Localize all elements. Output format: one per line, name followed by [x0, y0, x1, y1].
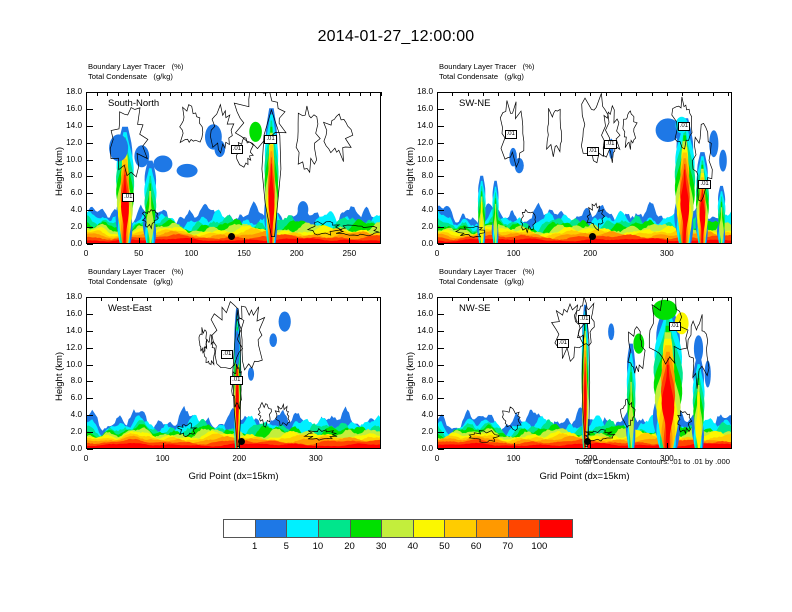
- x-minor-tick: [437, 297, 438, 301]
- panel-label-south-north: South-North: [108, 98, 159, 109]
- colorbar-cell: [382, 520, 414, 537]
- panel-header-nw-se: Boundary Layer Tracer (%)Total Condensat…: [439, 267, 534, 286]
- y-tick-mark: [438, 432, 444, 433]
- x-axis-label: Grid Point (dx=15km): [437, 471, 732, 482]
- x-tick-mark: [514, 443, 515, 449]
- x-tick-label: 100: [494, 454, 534, 463]
- y-tick-mark: [438, 314, 444, 315]
- contour-label: .01: [264, 135, 276, 144]
- contour-label: .01: [122, 193, 134, 202]
- y-tick-label: 16.0: [403, 309, 433, 318]
- panel-header-line1: Boundary Layer Tracer (%): [439, 267, 534, 277]
- y-tick-mark: [438, 398, 444, 399]
- x-minor-tick: [498, 297, 499, 301]
- x-minor-tick: [575, 297, 576, 301]
- contour-label: .01: [578, 315, 590, 324]
- colorbar-cell: [477, 520, 509, 537]
- x-minor-tick: [682, 297, 683, 301]
- x-minor-tick: [452, 297, 453, 301]
- x-minor-tick: [560, 297, 561, 301]
- y-axis-label: Height (km): [405, 352, 416, 401]
- station-marker: [589, 233, 596, 240]
- contour-label: .01: [698, 180, 710, 189]
- station-marker: [584, 438, 591, 445]
- x-tick-label: 0: [417, 454, 457, 463]
- y-tick-mark: [438, 381, 444, 382]
- y-tick-label: 4.0: [403, 410, 433, 419]
- contour-label: .01: [678, 122, 690, 131]
- panel-label-nw-se: NW-SE: [459, 303, 491, 314]
- contour-label: .01: [231, 145, 243, 154]
- y-tick-mark: [438, 348, 444, 349]
- y-tick-mark: [438, 331, 444, 332]
- colorbar-cell: [224, 520, 256, 537]
- y-tick-label: 14.0: [403, 326, 433, 335]
- x-tick-mark: [667, 443, 668, 449]
- y-tick-label: 12.0: [403, 343, 433, 352]
- y-tick-label: 2.0: [403, 427, 433, 436]
- x-minor-tick: [713, 297, 714, 301]
- y-tick-mark: [438, 415, 444, 416]
- x-minor-tick: [468, 297, 469, 301]
- x-minor-tick: [652, 297, 653, 301]
- x-tick-mark: [437, 443, 438, 449]
- contour-label: .01: [604, 140, 616, 149]
- station-marker: [238, 438, 245, 445]
- figure-canvas: 2014-01-27_12:00:00 Boundary Layer Trace…: [0, 0, 792, 612]
- colorbar-cell: [287, 520, 319, 537]
- y-tick-mark: [438, 365, 444, 366]
- x-minor-tick: [529, 297, 530, 301]
- x-minor-tick: [544, 297, 545, 301]
- colorbar-cell: [540, 520, 572, 537]
- colorbar-cell: [256, 520, 288, 537]
- colorbar-cell: [414, 520, 446, 537]
- x-tick-mark: [590, 443, 591, 449]
- x-minor-tick: [483, 297, 484, 301]
- y-tick-mark: [438, 449, 444, 450]
- panel-header-line2: Total Condensate (g/kg): [439, 277, 534, 287]
- x-minor-tick: [621, 297, 622, 301]
- y-tick-label: 0.0: [403, 444, 433, 453]
- x-minor-tick: [728, 297, 729, 301]
- colorbar-cell: [319, 520, 351, 537]
- panel-label-west-east: West-East: [108, 303, 152, 314]
- x-minor-tick: [514, 297, 515, 301]
- x-minor-tick: [698, 297, 699, 301]
- y-tick-label: 18.0: [403, 292, 433, 301]
- colorbar-cell: [351, 520, 383, 537]
- panel-label-sw-ne: SW-NE: [459, 98, 491, 109]
- contour-label: .01: [230, 376, 242, 385]
- colorbar-cell: [445, 520, 477, 537]
- colorbar: [223, 519, 573, 538]
- contour-note: Total Condensate Contours: .01 to .01 by…: [575, 457, 730, 466]
- contour-label: .01: [221, 350, 233, 359]
- contour-label: .01: [587, 147, 599, 156]
- contour-label: .01: [557, 339, 569, 348]
- colorbar-cell: [509, 520, 541, 537]
- x-minor-tick: [606, 297, 607, 301]
- colorbar-tick-label: 100: [519, 541, 559, 552]
- contour-label: .01: [505, 130, 517, 139]
- x-minor-tick: [667, 297, 668, 301]
- x-minor-tick: [636, 297, 637, 301]
- x-minor-tick: [590, 297, 591, 301]
- station-marker: [228, 233, 235, 240]
- contour-label: .01: [669, 322, 681, 331]
- y-tick-mark: [438, 297, 444, 298]
